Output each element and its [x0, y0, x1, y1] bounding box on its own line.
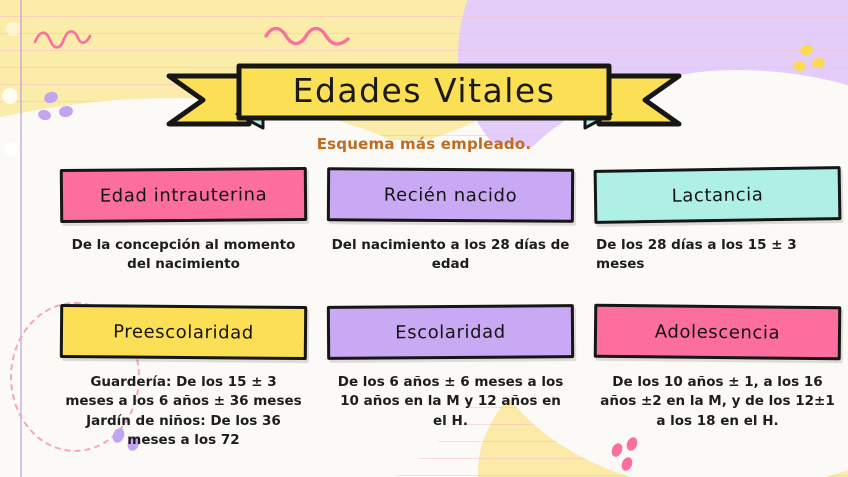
card-header-adolescencia[interactable]: Adolescencia	[594, 304, 842, 361]
slide-subtitle: Esquema más empleado.	[0, 135, 848, 153]
cards-grid: Edad intrauterina De la concepción al mo…	[60, 168, 848, 450]
card-preescolaridad[interactable]: Preescolaridad Guardería: De los 15 ± 3 …	[60, 305, 307, 450]
card-lactancia[interactable]: Lactancia De los 28 días a los 15 ± 3 me…	[594, 168, 841, 274]
card-label: Adolescencia	[655, 321, 781, 343]
card-adolescencia[interactable]: Adolescencia De los 10 años ± 1, a los 1…	[594, 305, 841, 430]
card-escolaridad[interactable]: Escolaridad De los 6 años ± 6 meses a lo…	[327, 305, 574, 430]
card-header-escolaridad[interactable]: Escolaridad	[327, 304, 574, 360]
card-label: Preescolaridad	[113, 321, 254, 343]
slide-canvas: Edades Vitales Esquema más empleado. Eda…	[0, 0, 848, 477]
card-description: Del nacimiento a los 28 días de edad	[327, 236, 574, 274]
card-description: De los 28 días a los 15 ± 3 meses	[594, 236, 841, 274]
card-recien-nacido[interactable]: Recién nacido Del nacimiento a los 28 dí…	[327, 168, 574, 274]
card-description-term: Guardería:	[90, 374, 171, 390]
pink-squiggle-center-icon	[262, 24, 358, 52]
card-header-preescolaridad[interactable]: Preescolaridad	[60, 304, 307, 360]
card-description: De la concepción al momento del nacimien…	[60, 236, 307, 274]
cards-row-1: Edad intrauterina De la concepción al mo…	[60, 168, 848, 274]
pink-squiggle-icon	[32, 26, 94, 52]
card-description: De los 10 años ± 1, a los 16 años ±2 en …	[594, 373, 841, 430]
card-label: Lactancia	[671, 184, 763, 206]
cards-row-2: Preescolaridad Guardería: De los 15 ± 3 …	[60, 305, 848, 450]
white-dot-icon	[6, 22, 20, 36]
card-edad-intrauterina[interactable]: Edad intrauterina De la concepción al mo…	[60, 168, 307, 274]
card-header-recien-nacido[interactable]: Recién nacido	[327, 167, 574, 223]
page-title: Edades Vitales	[0, 62, 848, 120]
card-description: De los 6 años ± 6 meses a los 10 años en…	[327, 373, 574, 430]
card-label: Escolaridad	[395, 321, 506, 343]
card-header-edad-intrauterina[interactable]: Edad intrauterina	[60, 167, 307, 223]
card-label: Recién nacido	[384, 184, 518, 206]
card-description-rich: Guardería: De los 15 ± 3 meses a los 6 a…	[60, 373, 307, 450]
card-header-lactancia[interactable]: Lactancia	[594, 166, 842, 224]
card-label: Edad intrauterina	[100, 184, 268, 206]
card-description-term: Jardín de niños:	[86, 413, 205, 429]
